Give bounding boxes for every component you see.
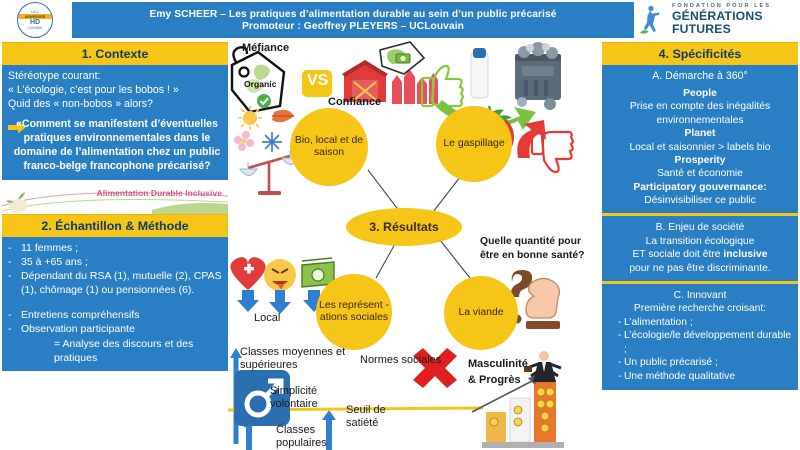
- label-masculinite-line2: & Progrès: [468, 374, 521, 386]
- pillar-body-prosperity: Santé et économie: [608, 167, 792, 180]
- section-4c-subtitle: Première recherche croisant:: [608, 302, 792, 315]
- pillar-head-governance: Participatory gouvernance:: [608, 181, 792, 194]
- dash-bullet: -: [8, 308, 15, 322]
- section-4-title: 4. Spécificités: [602, 42, 798, 65]
- list-item: -35 à +65 ans ;: [8, 255, 222, 269]
- adi-watermark: Alimentation Durable Inclusive: [2, 180, 228, 214]
- pillar-body-planet: Local et saisonnier > labels bio: [608, 141, 792, 154]
- header-title-band: Emy SCHEER – Les pratiques d’alimentatio…: [72, 2, 634, 38]
- bubble-bio-local-saison[interactable]: Bio, local et de saison: [290, 108, 368, 186]
- section-2-note: = Analyse des discours et des pratiques: [8, 337, 222, 365]
- label-masculinite-line1: Masculinité: [468, 358, 528, 370]
- list-item-label: 35 à +65 ans ;: [21, 255, 222, 269]
- list-item: -L’alimentation ;: [608, 316, 792, 330]
- money-tag-icon: [380, 42, 424, 74]
- section-1-title: 1. Contexte: [2, 42, 228, 65]
- list-item-label: 11 femmes ;: [21, 241, 222, 255]
- section-4b-heading: B. Enjeu de société: [608, 221, 792, 234]
- dash-bullet: -: [8, 255, 15, 269]
- bubble-gaspillage[interactable]: Le gaspillage: [436, 106, 512, 182]
- header-title-line2: Promoteur : Geoffrey PLEYERS – UCLouvain: [242, 21, 464, 32]
- bubble-representations-sociales[interactable]: Les représent -ations sociales: [316, 274, 392, 350]
- section-4a-heading: A. Démarche à 360°: [608, 70, 792, 82]
- label-local: Local: [254, 312, 280, 324]
- section-4-body-a: A. Démarche à 360° People Prise en compt…: [602, 65, 798, 213]
- section-4-body-b: B. Enjeu de société La transition écolog…: [602, 216, 798, 281]
- ucl-seal-mid: HD: [30, 19, 40, 26]
- label-normes-sociales: Normes sociales: [360, 354, 441, 366]
- poster-root: UCL UNIVERSITÉ HD LOUVAIN Emy SCHEER – L…: [0, 0, 800, 450]
- bubble-la-viande[interactable]: La viande: [444, 276, 518, 350]
- label-classes-populaires: Classes populaires: [276, 424, 356, 450]
- list-item-label: L’écologie/le développement durable ;: [624, 329, 792, 356]
- dash-bullet: -: [608, 316, 618, 330]
- label-simplicite-volontaire: Simplicité volontaire: [270, 385, 350, 412]
- label-organic-tag: Organic: [244, 79, 276, 89]
- trash-bin-icon: [515, 42, 561, 110]
- section-1-body: Stéréotype courant: « L’écologie, c’est …: [2, 65, 228, 180]
- bubble-resultats[interactable]: 3. Résultats: [346, 208, 462, 246]
- list-item-label: L’alimentation ;: [624, 316, 693, 330]
- spacer: [21, 297, 222, 308]
- label-confiance: Confiance: [328, 96, 381, 108]
- context-question-row: «Comment se manifestent d’éventuelles pr…: [8, 118, 222, 174]
- section-2-list: -11 femmes ; -35 à +65 ans ; -Dépendant …: [8, 241, 222, 336]
- context-research-question: «Comment se manifestent d’éventuelles pr…: [12, 118, 222, 174]
- dash-bullet: -: [608, 356, 618, 370]
- header-title-line1: Emy SCHEER – Les pratiques d’alimentatio…: [149, 9, 556, 20]
- pillar-head-planet: Planet: [608, 127, 792, 140]
- right-column: 4. Spécificités A. Démarche à 360° Peopl…: [602, 42, 798, 390]
- ucl-logo: UCL UNIVERSITÉ HD LOUVAIN: [8, 1, 62, 39]
- running-person-icon: [638, 3, 668, 37]
- question-hand-icon: [511, 270, 560, 329]
- section-2-body: -11 femmes ; -35 à +65 ans ; -Dépendant …: [2, 237, 228, 371]
- seasons-icon: [234, 106, 294, 152]
- section-2-title: 2. Échantillon & Méthode: [2, 214, 228, 237]
- center-diagram: Méfiance Confiance VS Organic Bio, local…: [228, 40, 602, 450]
- list-item-label: Entretiens compréhensifs: [21, 308, 222, 322]
- ucl-seal-icon: UCL UNIVERSITÉ HD LOUVAIN: [17, 2, 53, 38]
- section-4b-line2: ET sociale doit être inclusive: [608, 248, 792, 261]
- dash-bullet: -: [608, 329, 618, 356]
- fgf-logo: FONDATION POUR LES GÉNÉRATIONS FUTURES: [638, 0, 800, 40]
- poster-header: UCL UNIVERSITÉ HD LOUVAIN Emy SCHEER – L…: [0, 0, 800, 40]
- list-item: -Une méthode qualitative: [608, 370, 792, 384]
- list-item: -Observation participante: [8, 322, 222, 336]
- label-quelle-quantite-line2: être en bonne santé?: [480, 250, 585, 261]
- dash-bullet: -: [608, 370, 618, 384]
- pillar-body-people: Prise en compte des inégalités environne…: [608, 100, 792, 127]
- section-4b-line2-bold: inclusive: [723, 249, 767, 260]
- left-column: 1. Contexte Stéréotype courant: « L’écol…: [2, 42, 228, 371]
- context-line-1: Stéréotype courant:: [8, 70, 222, 84]
- section-4b-line1: La transition écologique: [608, 235, 792, 248]
- dash-bullet: -: [8, 322, 15, 336]
- list-item-label: Dépendant du RSA (1), mutuelle (2), CPAS…: [21, 269, 222, 297]
- dash-bullet: -: [8, 269, 15, 297]
- section-4c-heading: C. Innovant: [608, 289, 792, 302]
- pillar-head-people: People: [608, 87, 792, 100]
- list-item: -L’écologie/le développement durable ;: [608, 329, 792, 356]
- list-item: -Dépendant du RSA (1), mutuelle (2), CPA…: [8, 269, 222, 297]
- label-classes-moyennes: Classes moyennes et supérieures: [240, 346, 358, 373]
- label-mefiance: Méfiance: [242, 42, 289, 54]
- label-vs: VS: [307, 72, 328, 90]
- section-4-body-c: C. Innovant Première recherche croisant:…: [602, 284, 798, 390]
- context-line-2: « L’écologie, c’est pour les bobos ! »: [8, 84, 222, 98]
- fgf-logo-title: GÉNÉRATIONS FUTURES: [672, 10, 800, 36]
- label-seuil-satiete: Seuil de satiété: [346, 404, 412, 431]
- list-item-label: Un public précarisé ;: [624, 356, 718, 370]
- bottle-icon: [471, 48, 488, 98]
- list-item-label: Une méthode qualitative: [624, 370, 735, 384]
- section-4b-line2-pre: ET sociale doit être: [633, 249, 724, 260]
- fgf-logo-text: FONDATION POUR LES GÉNÉRATIONS FUTURES: [672, 4, 800, 35]
- pillar-body-governance: Désinvisibiliser ce public: [608, 194, 792, 207]
- list-item: -11 femmes ;: [8, 241, 222, 255]
- context-line-3: Quid des « non-bobos » alors?: [8, 98, 222, 112]
- thumbs-up-icon: [422, 66, 463, 106]
- list-item: -Un public précarisé ;: [608, 356, 792, 370]
- list-item: -Entretiens compréhensifs: [8, 308, 222, 322]
- ucl-seal-bottom: LOUVAIN: [28, 26, 42, 30]
- section-4b-line3: pour ne pas être discriminante.: [608, 262, 792, 275]
- dash-bullet: [8, 297, 15, 308]
- pillar-head-prosperity: Prosperity: [608, 154, 792, 167]
- dash-bullet: -: [8, 241, 15, 255]
- list-spacer: [8, 297, 222, 308]
- watermark-text: Alimentation Durable Inclusive: [97, 188, 222, 198]
- label-quelle-quantite-line1: Quelle quantité pour: [480, 236, 581, 247]
- list-item-label: Observation participante: [21, 322, 222, 336]
